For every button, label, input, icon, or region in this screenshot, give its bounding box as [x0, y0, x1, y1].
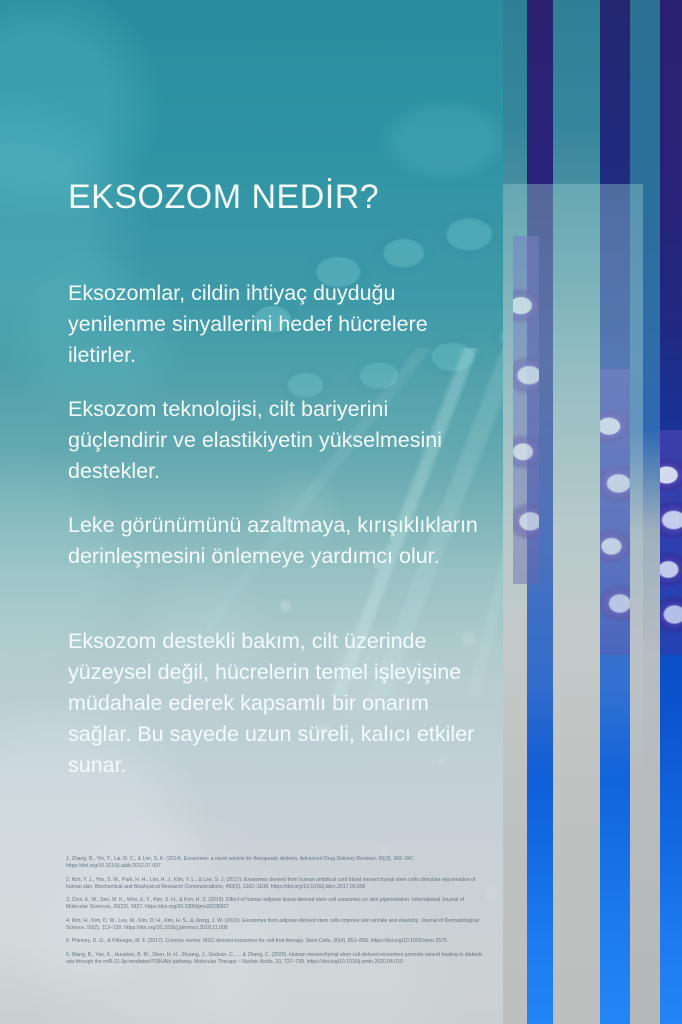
body-paragraph-3: Leke görünümünü azaltmaya, kırışıklıklar…	[68, 510, 480, 572]
poster-canvas: EKSOZOM NEDİR? Eksozomlar, cildin ihtiya…	[0, 0, 682, 1024]
stripe-teal-2	[553, 0, 600, 1024]
page-title: EKSOZOM NEDİR?	[68, 178, 379, 217]
reference-item: 2. Kim, Y. J., Yoo, S. M., Park, H. H., …	[66, 877, 486, 891]
stripe-indigo-2	[600, 0, 630, 1024]
references-list: 1. Zhang, B., Yin, Y., Lai, R. C., & Lim…	[66, 856, 486, 972]
body-paragraph-2: Eksozom teknolojisi, cilt bariyerini güç…	[68, 394, 480, 487]
body-paragraph-4: Eksozom destekli bakım, cilt üzerinde yü…	[68, 626, 480, 781]
reference-item: 5. Phinney, D. G., & Pittenger, M. F. (2…	[66, 938, 486, 945]
stripe-indigo-1	[527, 0, 553, 1024]
reference-item: 6. Wang, B., Yao, K., Huuskes, B. M., Sh…	[66, 952, 486, 966]
stripe-steel-1	[630, 0, 660, 1024]
reference-item: 1. Zhang, B., Yin, Y., Lai, R. C., & Lim…	[66, 856, 486, 870]
stripe-teal-1	[503, 0, 527, 1024]
reference-item: 4. Kim, H., Kim, D. W., Lee, M., Kim, D.…	[66, 918, 486, 932]
body-paragraph-1: Eksozomlar, cildin ihtiyaç duyduğu yenil…	[68, 278, 480, 371]
reference-item: 3. Choi, E. W., Seo, M. K., Woo, E. Y., …	[66, 897, 486, 911]
stripe-indigo-3	[660, 0, 682, 1024]
vertical-stripe-band	[503, 0, 682, 1024]
